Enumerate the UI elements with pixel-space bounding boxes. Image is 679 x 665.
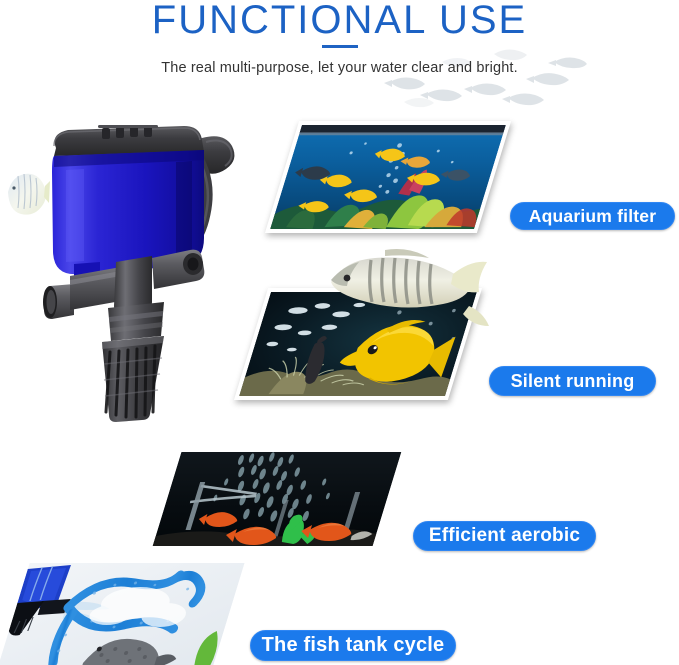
- striped-fish-icon: [325, 248, 490, 330]
- photo-aquarium-reef-tank: [265, 121, 511, 233]
- angelfish-icon: [4, 166, 50, 218]
- header: FUNCTIONAL USE The real multi-purpose, l…: [0, 0, 679, 110]
- product-pump-image: [6, 112, 256, 422]
- pump-collar: [108, 302, 164, 341]
- label-silent-running[interactable]: Silent running: [489, 366, 656, 396]
- page-title: FUNCTIONAL USE: [0, 0, 679, 42]
- page-subtitle: The real multi-purpose, let your water c…: [0, 59, 679, 78]
- photo-aeration-bubbles-tank: [153, 452, 402, 546]
- label-aquarium-filter[interactable]: Aquarium filter: [510, 202, 675, 230]
- label-fish-tank-cycle[interactable]: The fish tank cycle: [250, 630, 456, 661]
- photo-water-circulation-diagram: [0, 563, 245, 665]
- title-divider: [322, 45, 358, 48]
- label-efficient-aerobic[interactable]: Efficient aerobic: [413, 521, 596, 551]
- pump-strainer-cage: [102, 336, 164, 422]
